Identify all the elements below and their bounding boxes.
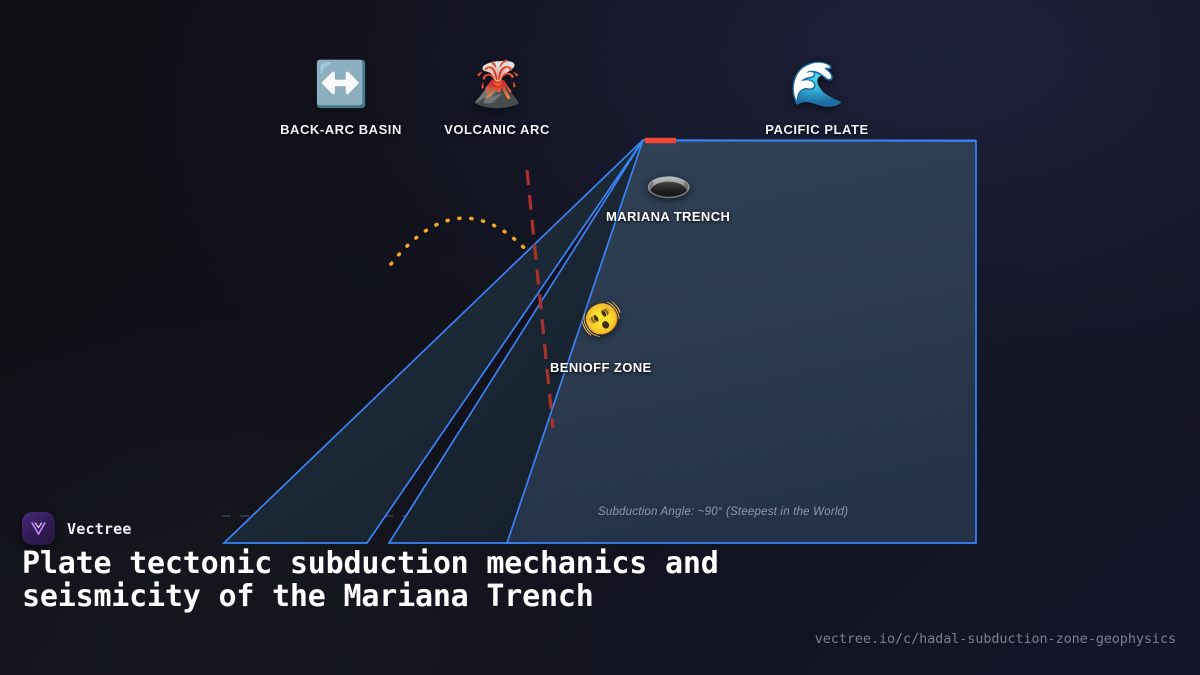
- vectree-v-logo-icon: [22, 512, 55, 545]
- shaking-face-icon: 🫨: [580, 303, 622, 337]
- feature-label-back-arc-basin: BACK-ARC BASIN: [280, 122, 402, 137]
- feature-pacific-plate[interactable]: 🌊 PACIFIC PLATE: [727, 60, 907, 137]
- left-right-arrow-icon: ↔️: [314, 60, 369, 112]
- brand-name: Vectree: [67, 520, 132, 538]
- feature-label-mariana-trench: MARIANA TRENCH: [606, 209, 730, 224]
- volcano-icon: 🌋: [470, 60, 525, 112]
- feature-label-benioff-zone: BENIOFF ZONE: [550, 360, 652, 375]
- brand-lockup[interactable]: Vectree: [22, 512, 132, 545]
- feature-label-pacific-plate: PACIFIC PLATE: [765, 122, 868, 137]
- source-url: vectree.io/c/hadal-subduction-zone-geoph…: [815, 631, 1176, 647]
- infographic-canvas: ↔️ BACK-ARC BASIN 🌋 VOLCANIC ARC 🌊 PACIF…: [0, 0, 1200, 675]
- page-title: Plate tectonic subduction mechanics and …: [22, 548, 822, 613]
- subduction-angle-note: Subduction Angle: ~90° (Steepest in the …: [598, 506, 848, 518]
- hole-icon: 🕳️: [645, 163, 692, 201]
- feature-back-arc-basin[interactable]: ↔️ BACK-ARC BASIN: [251, 60, 431, 137]
- ocean-wave-icon: 🌊: [790, 60, 845, 112]
- feature-label-volcanic-arc: VOLCANIC ARC: [444, 122, 550, 137]
- feature-volcanic-arc[interactable]: 🌋 VOLCANIC ARC: [407, 60, 587, 137]
